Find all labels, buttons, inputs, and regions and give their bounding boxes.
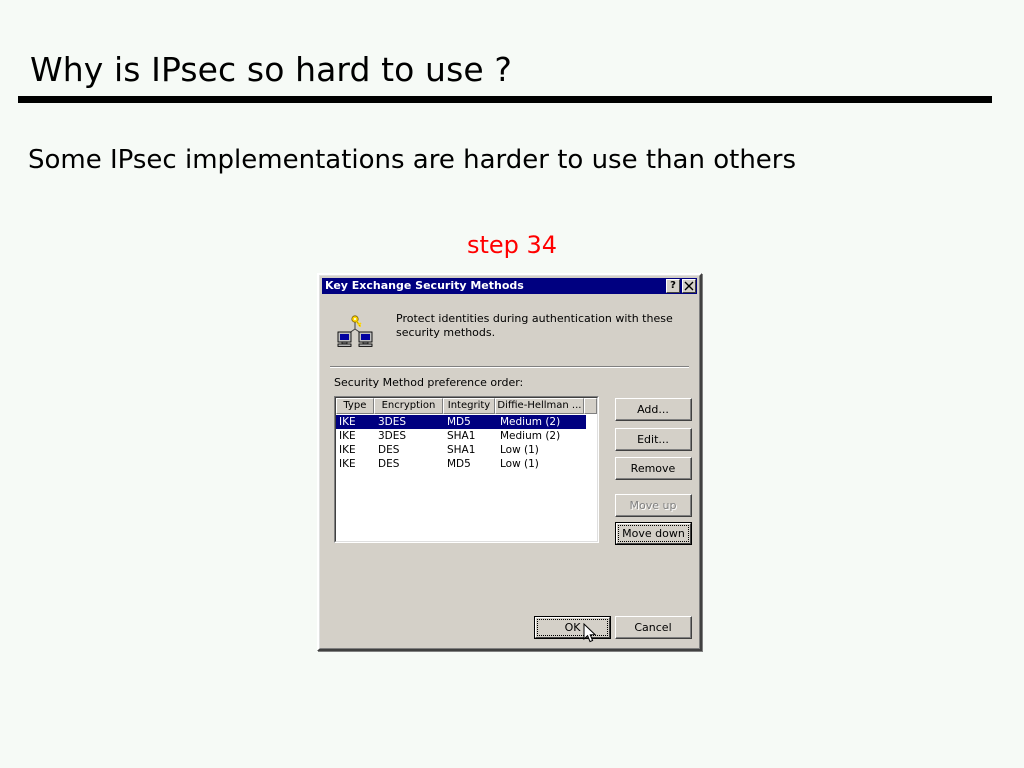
remove-button[interactable]: Remove bbox=[615, 457, 692, 480]
cell-diffie-hellman: Low (1) bbox=[496, 457, 586, 471]
cancel-button[interactable]: Cancel bbox=[615, 616, 692, 639]
cell-diffie-hellman: Medium (2) bbox=[496, 415, 586, 429]
cell-type: IKE bbox=[336, 415, 374, 429]
cell-encryption: DES bbox=[374, 443, 444, 457]
cell-type: IKE bbox=[336, 429, 374, 443]
cell-diffie-hellman: Medium (2) bbox=[496, 429, 586, 443]
table-row[interactable]: IKE3DESMD5Medium (2) bbox=[336, 415, 586, 429]
move-down-button-label: Move down bbox=[618, 525, 689, 542]
ok-button[interactable]: OK bbox=[534, 616, 611, 639]
move-up-button: Move up bbox=[615, 494, 692, 517]
dialog-titlebar[interactable]: Key Exchange Security Methods ? bbox=[322, 278, 697, 294]
column-header-encryption[interactable]: Encryption bbox=[374, 398, 443, 414]
ok-button-label: OK bbox=[537, 619, 608, 636]
cell-type: IKE bbox=[336, 443, 374, 457]
dialog-title: Key Exchange Security Methods bbox=[325, 278, 664, 294]
listbox-inner: Type Encryption Integrity Diffie-Hellman… bbox=[335, 397, 598, 542]
dialog-inner-frame: Key Exchange Security Methods ? bbox=[319, 275, 700, 649]
cancel-button-label: Cancel bbox=[616, 617, 691, 638]
page-title: Why is IPsec so hard to use ? bbox=[30, 50, 512, 89]
key-exchange-security-methods-dialog: Key Exchange Security Methods ? bbox=[317, 273, 702, 651]
remove-button-label: Remove bbox=[616, 458, 691, 479]
move-down-button[interactable]: Move down bbox=[615, 522, 692, 545]
cell-integrity: MD5 bbox=[444, 415, 496, 429]
edit-button[interactable]: Edit... bbox=[615, 428, 692, 451]
cell-encryption: 3DES bbox=[374, 429, 444, 443]
table-row[interactable]: IKEDESMD5Low (1) bbox=[336, 457, 586, 471]
column-header-spacer[interactable] bbox=[584, 398, 597, 414]
title-divider bbox=[18, 96, 992, 103]
add-button[interactable]: Add... bbox=[615, 398, 692, 421]
cell-type: IKE bbox=[336, 457, 374, 471]
cell-integrity: MD5 bbox=[444, 457, 496, 471]
close-icon[interactable] bbox=[682, 279, 696, 293]
cell-encryption: DES bbox=[374, 457, 444, 471]
table-row[interactable]: IKEDESSHA1Low (1) bbox=[336, 443, 586, 457]
table-row[interactable]: IKE3DESSHA1Medium (2) bbox=[336, 429, 586, 443]
edit-button-label: Edit... bbox=[616, 429, 691, 450]
add-button-label: Add... bbox=[616, 399, 691, 420]
cell-integrity: SHA1 bbox=[444, 429, 496, 443]
move-up-button-label: Move up bbox=[616, 495, 691, 516]
listbox-rows: IKE3DESMD5Medium (2)IKE3DESSHA1Medium (2… bbox=[336, 414, 597, 471]
dialog-description: Protect identities during authentication… bbox=[396, 312, 681, 340]
list-label: Security Method preference order: bbox=[334, 376, 523, 389]
security-methods-listbox[interactable]: Type Encryption Integrity Diffie-Hellman… bbox=[334, 396, 599, 543]
dialog-description-row: Protect identities during authentication… bbox=[336, 312, 687, 348]
slide-subtitle: Some IPsec implementations are harder to… bbox=[28, 145, 796, 175]
cell-integrity: SHA1 bbox=[444, 443, 496, 457]
column-header-diffie-hellman[interactable]: Diffie-Hellman ... bbox=[495, 398, 584, 414]
cell-encryption: 3DES bbox=[374, 415, 444, 429]
separator bbox=[330, 366, 689, 368]
help-icon[interactable]: ? bbox=[666, 279, 680, 293]
cell-diffie-hellman: Low (1) bbox=[496, 443, 586, 457]
two-computers-key-icon bbox=[336, 314, 374, 348]
step-label: step 34 bbox=[0, 231, 1024, 259]
column-header-type[interactable]: Type bbox=[336, 398, 374, 414]
column-header-integrity[interactable]: Integrity bbox=[443, 398, 495, 414]
listbox-header-row: Type Encryption Integrity Diffie-Hellman… bbox=[336, 398, 597, 414]
